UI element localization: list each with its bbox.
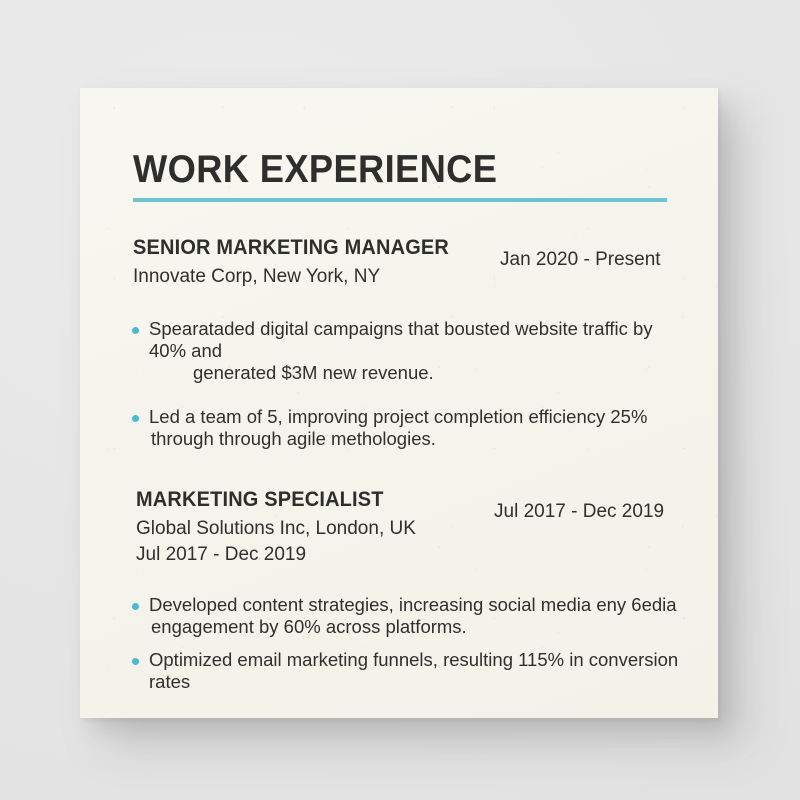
bullet-line-secondary: through through agile methologies. [149, 428, 647, 450]
bullet-line-secondary: engagement by 60% across platforms. [149, 616, 677, 638]
bullet-line-primary: Developed content strategies, increasing… [149, 594, 677, 615]
bullet-dot-icon [132, 415, 139, 422]
bullet-text-2-1: Developed content strategies, increasing… [149, 594, 677, 638]
bullet-text-2-2: Optimized email marketing funnels, resul… [149, 649, 689, 693]
title-underline-rule [133, 198, 667, 202]
bullet-text-1-2: Led a team of 5, improving project compl… [149, 406, 647, 450]
list-item: Spearataded digital campaigns that boust… [132, 318, 692, 384]
list-item: Developed content strategies, increasing… [132, 594, 702, 638]
bullet-line-secondary: generated $3M new revenue. [149, 362, 689, 384]
experience-entry-2: MARKETING SPECIALIST Global Solutions In… [136, 488, 416, 566]
company-location-1: Innovate Corp, New York, NY [133, 266, 466, 288]
experience-entry-1: SENIOR MARKETING MANAGER Innovate Corp, … [133, 236, 466, 288]
page-title: WORK EXPERIENCE [133, 148, 497, 192]
resume-card: WORK EXPERIENCE SENIOR MARKETING MANAGER… [80, 88, 718, 718]
job-date-range-1: Jan 2020 - Present [500, 249, 661, 271]
list-item: Led a team of 5, improving project compl… [132, 406, 692, 450]
bullet-line-primary: Spearataded digital campaigns that boust… [149, 318, 653, 361]
resume-card-content: WORK EXPERIENCE SENIOR MARKETING MANAGER… [80, 88, 718, 718]
job-date-inline-2: Jul 2017 - Dec 2019 [136, 544, 416, 566]
bullet-line-primary: Optimized email marketing funnels, resul… [149, 649, 678, 692]
bullet-dot-icon [132, 603, 139, 610]
bullet-line-primary: Led a team of 5, improving project compl… [149, 406, 647, 427]
bullet-dot-icon [132, 658, 139, 665]
job-date-range-2: Jul 2017 - Dec 2019 [494, 501, 664, 523]
list-item: Optimized email marketing funnels, resul… [132, 649, 707, 693]
bullet-text-1-1: Spearataded digital campaigns that boust… [149, 318, 689, 384]
job-title-1: SENIOR MARKETING MANAGER [133, 236, 449, 260]
company-location-2: Global Solutions Inc, London, UK [136, 518, 416, 540]
bullet-dot-icon [132, 327, 139, 334]
job-title-2: MARKETING SPECIALIST [136, 488, 402, 512]
